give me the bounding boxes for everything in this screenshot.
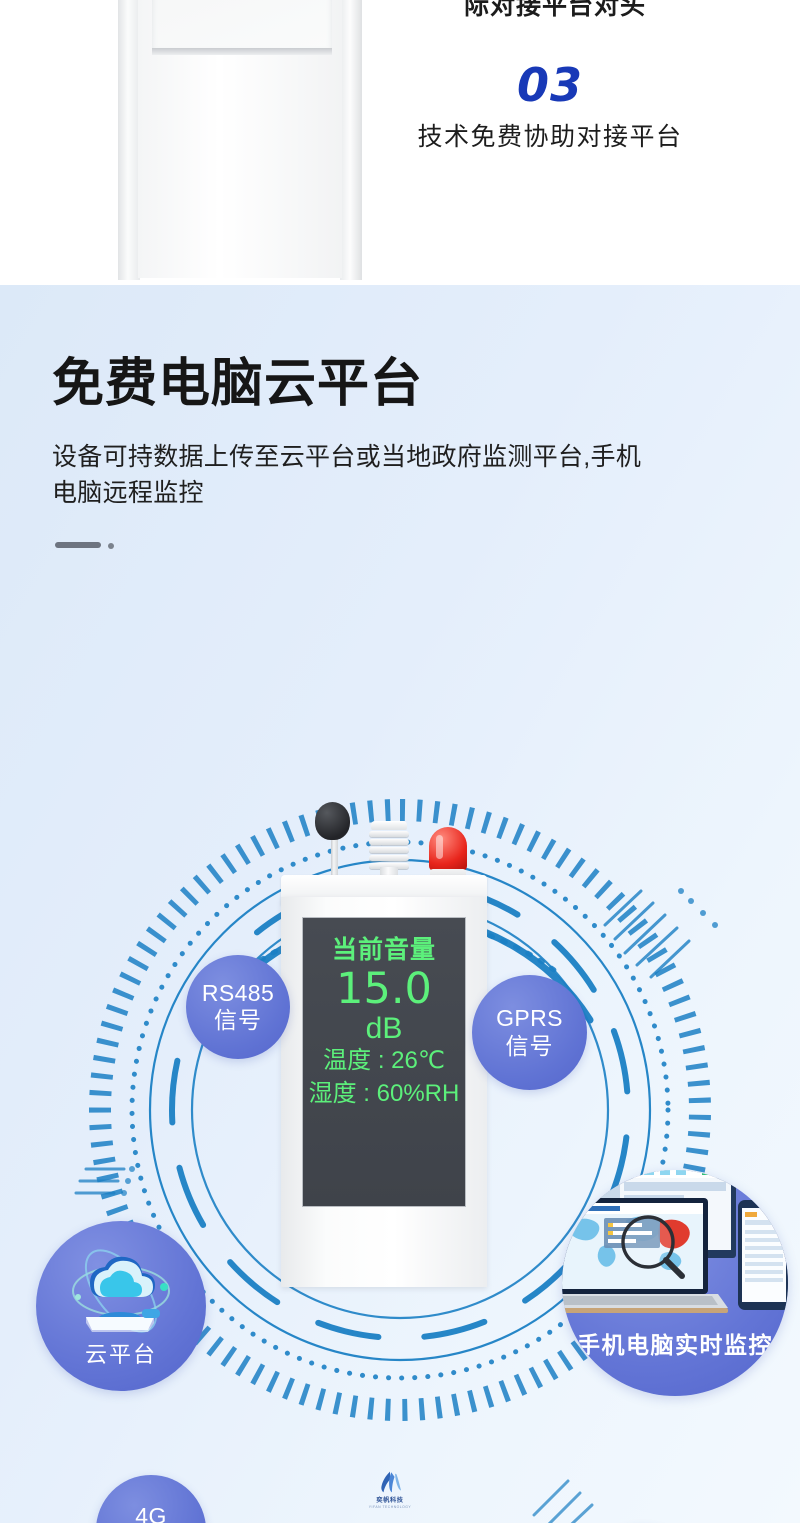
badge-cloud-caption: 云平台 [36, 1337, 206, 1369]
badge-gprs-line1: GPRS [496, 1005, 563, 1032]
laptop-phone-monitoring-icon [562, 1170, 788, 1332]
product-detail-page: 超过50分贝。未遵守公共场所有关活动区域、时段、音量等规定将给予警告或处罚。 际… [0, 0, 800, 1523]
badge-realtime-monitoring[interactable]: 手机电脑实时监控 [562, 1170, 788, 1396]
badge-cloud-platform[interactable]: 云平台 [36, 1221, 206, 1391]
weather-sensor-icon [366, 821, 412, 883]
step-number: 03 [400, 58, 700, 112]
badge-rs485-line2: 信号 [214, 1007, 262, 1034]
screen-noise-unit: dB [366, 1012, 403, 1045]
badge-gprs[interactable]: GPRS 信号 [472, 975, 587, 1090]
screen-noise-value: 15.0 [336, 967, 432, 1012]
badge-rs485-line1: RS485 [202, 980, 274, 1007]
cloud-platform-section: 免费电脑云平台 设备可持数据上传至云平台或当地政府监测平台,手机电脑远程监控 [0, 285, 800, 1523]
badge-rs485[interactable]: RS485 信号 [186, 955, 290, 1059]
feather-logo-icon [377, 1471, 403, 1493]
device-display-screen: 当前音量 15.0 dB 温度 : 26℃ 湿度 : 60%RH [302, 917, 466, 1207]
step-03-section: 超过50分贝。未遵守公共场所有关活动区域、时段、音量等规定将给予警告或处罚。 际… [0, 0, 800, 285]
top-device-illustration: 超过50分贝。未遵守公共场所有关活动区域、时段、音量等规定将给予警告或处罚。 [118, 0, 368, 285]
brand-name-cn: 奕帆科技 [376, 1495, 403, 1504]
screen-temperature: 温度 : 26℃ [323, 1045, 445, 1077]
badge-4g-line1: 4G [135, 1503, 166, 1523]
screen-title: 当前音量 [332, 930, 436, 966]
top-panel-shadow [152, 48, 332, 55]
badge-monitor-caption: 手机电脑实时监控 [562, 1326, 788, 1360]
step-label: 技术免费协助对接平台 [375, 117, 725, 153]
brand-logo: 奕帆科技 YIFAN TECHNOLOGY [355, 1471, 425, 1517]
pole-left-leg [118, 0, 140, 280]
top-panel-frame [152, 0, 332, 52]
cloud-platform-icon [64, 1243, 178, 1343]
pole-right-leg [340, 0, 362, 280]
brand-name-en: YIFAN TECHNOLOGY [369, 1505, 411, 1509]
cut-off-heading: 际对接平台对头 [420, 0, 690, 22]
microphone-icon [315, 802, 350, 840]
badge-gprs-line2: 信号 [506, 1033, 554, 1060]
screen-humidity: 湿度 : 60%RH [309, 1078, 460, 1110]
